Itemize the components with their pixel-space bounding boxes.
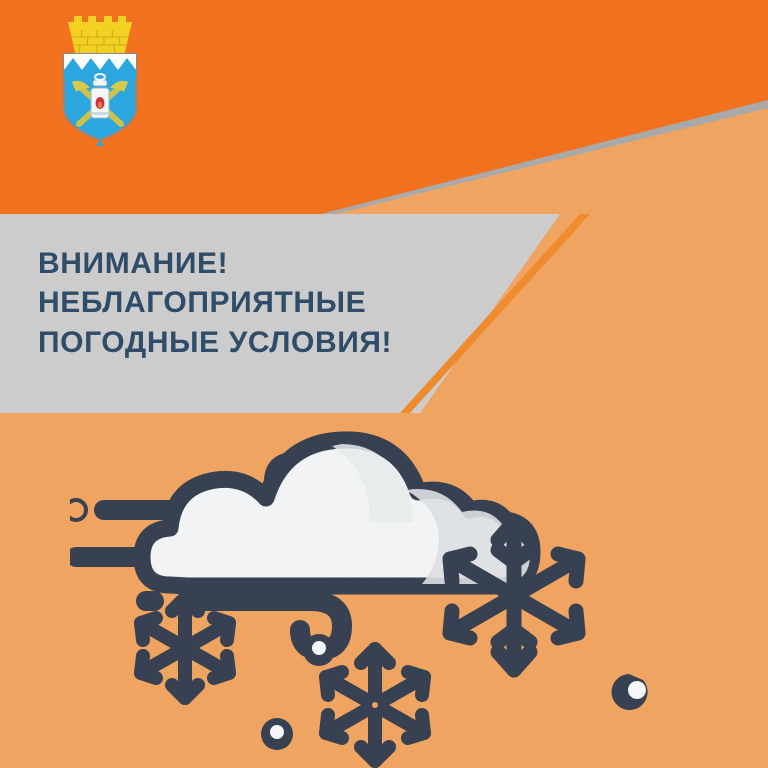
shield-icon bbox=[64, 54, 136, 146]
snow-dot-icon bbox=[261, 718, 293, 750]
page-title: ВНИМАНИЕ! НЕБЛАГОПРИЯТНЫЕ ПОГОДНЫЕ УСЛОВ… bbox=[38, 244, 478, 362]
city-coat-of-arms bbox=[52, 8, 148, 148]
snow-dot-icon bbox=[303, 634, 335, 666]
weather-warning-poster: ВНИМАНИЕ! НЕБЛАГОПРИЯТНЫЕ ПОГОДНЫЕ УСЛОВ… bbox=[0, 0, 768, 768]
crown-icon bbox=[68, 16, 132, 56]
miner-lamp-icon bbox=[91, 74, 109, 118]
snow-dot-icon bbox=[612, 674, 648, 710]
snowflake-icon bbox=[326, 649, 424, 761]
snowflake-icon bbox=[141, 598, 229, 698]
weather-illustration bbox=[70, 400, 750, 768]
